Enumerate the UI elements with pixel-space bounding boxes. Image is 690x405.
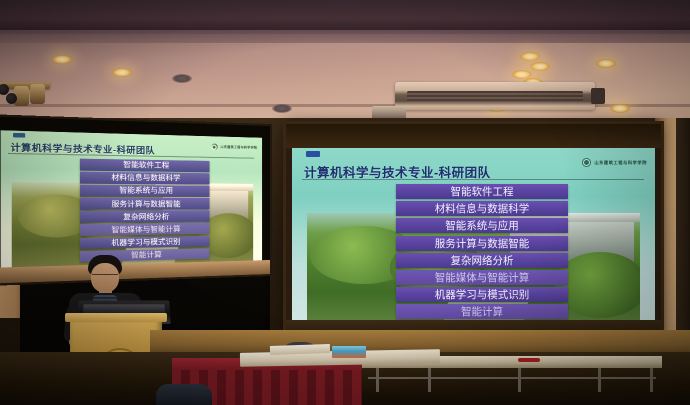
podium-top [65,313,167,322]
book-stack [332,346,366,358]
right-screen-top-frame [286,124,661,148]
institution-logo: 山东建筑工程与科学学院 [211,144,257,151]
list-item: 服务计算与数据智能 [80,198,210,209]
list-item: 复杂网络分析 [80,211,210,223]
list-item: 机器学习与模式识别 [396,287,568,302]
list-item: 智能软件工程 [80,159,210,172]
slide-title: 计算机科学与技术专业-科研团队 [304,162,491,181]
list-item: 机器学习与模式识别 [80,236,210,249]
list-item: 服务计算与数据智能 [396,236,568,251]
downlight-icon [520,52,540,61]
red-marker [518,358,540,362]
list-item: 材料信息与数据科学 [396,201,568,216]
list-item: 智能计算 [396,304,568,319]
logo-text: 山东建筑工程与科学学院 [594,160,647,166]
list-item: 复杂网络分析 [396,253,568,268]
list-item: 智能系统与应用 [80,185,210,197]
ceiling-beam [0,0,690,34]
slide-accent-tab [13,133,25,138]
institution-logo: 山东建筑工程与科学学院 [582,158,647,167]
glasses-icon [92,274,118,280]
downlight-icon [172,74,192,83]
slide-title: 计算机科学与技术专业-科研团队 [11,141,156,157]
downlight-icon [530,62,550,71]
projection-screen-right: 计算机科学与技术专业-科研团队 山东建筑工程与科学学院 智能软件工程 材料信息与… [286,124,661,343]
stage-spotlight-rig [0,62,52,108]
ceiling [0,0,690,132]
folding-table-legs [368,368,656,392]
list-item: 智能媒体与智能计算 [80,223,210,236]
list-item: 智能软件工程 [396,184,568,199]
research-team-list-right: 智能软件工程 材料信息与数据科学 智能系统与应用 服务计算与数据智能 复杂网络分… [396,184,568,319]
logo-mark-icon [211,144,217,150]
vent-grill [407,91,583,102]
screenshot-root: 计算机科学与技术专业-科研团队 山东建筑工程与科学学院 智能软件工程 材料信息与… [0,0,690,405]
downlight-icon [272,104,292,113]
right-slide-surface: 计算机科学与技术专业-科研团队 山东建筑工程与科学学院 智能软件工程 材料信息与… [292,148,655,320]
list-item: 智能媒体与智能计算 [396,270,568,285]
vent-port [591,88,605,104]
logo-mark-icon [582,158,591,167]
slide-accent-tab [306,151,320,157]
logo-text: 山东建筑工程与科学学院 [220,145,257,150]
downlight-icon [596,59,616,68]
list-item: 智能系统与应用 [396,218,568,233]
left-slide-surface: 计算机科学与技术专业-科研团队 山东建筑工程与科学学院 智能软件工程 材料信息与… [1,130,262,267]
ceiling-air-vent [395,82,595,110]
list-item: 材料信息与数据科学 [80,172,210,184]
downlight-icon [112,68,132,77]
foreground-object [156,384,212,405]
downlight-icon [52,55,72,64]
downlight-icon [610,104,630,113]
ceiling-beam-secondary [0,30,690,43]
research-team-list-left: 智能软件工程 材料信息与数据科学 智能系统与应用 服务计算与数据智能 复杂网络分… [80,159,210,263]
rig-knob [6,93,17,104]
spotlight-can [30,84,45,104]
